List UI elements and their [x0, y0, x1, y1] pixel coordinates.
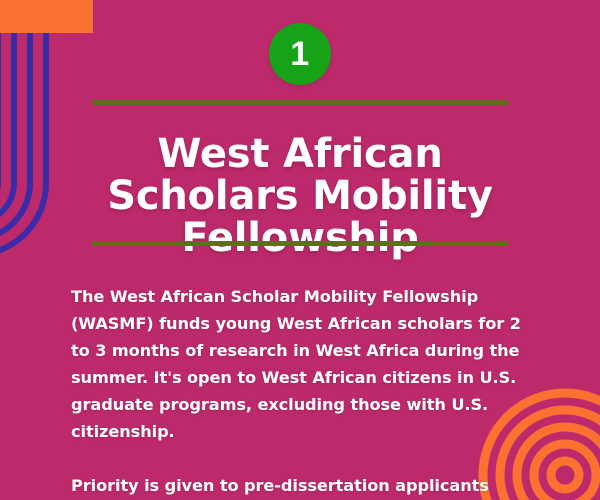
step-number-badge: 1	[269, 23, 331, 85]
title-divider-top	[92, 100, 508, 105]
poster-canvas: 1 West African Scholars Mobility Fellows…	[0, 0, 600, 500]
body-copy: The West African Scholar Mobility Fellow…	[71, 283, 531, 500]
body-paragraph-1: The West African Scholar Mobility Fellow…	[71, 283, 531, 445]
title-divider-bottom	[92, 241, 508, 246]
orange-rectangle-decoration	[0, 0, 93, 33]
step-number-label: 1	[290, 37, 309, 71]
body-paragraph-2: Priority is given to pre-dissertation ap…	[71, 472, 531, 500]
page-title: West African Scholars Mobility Fellowshi…	[60, 133, 540, 259]
